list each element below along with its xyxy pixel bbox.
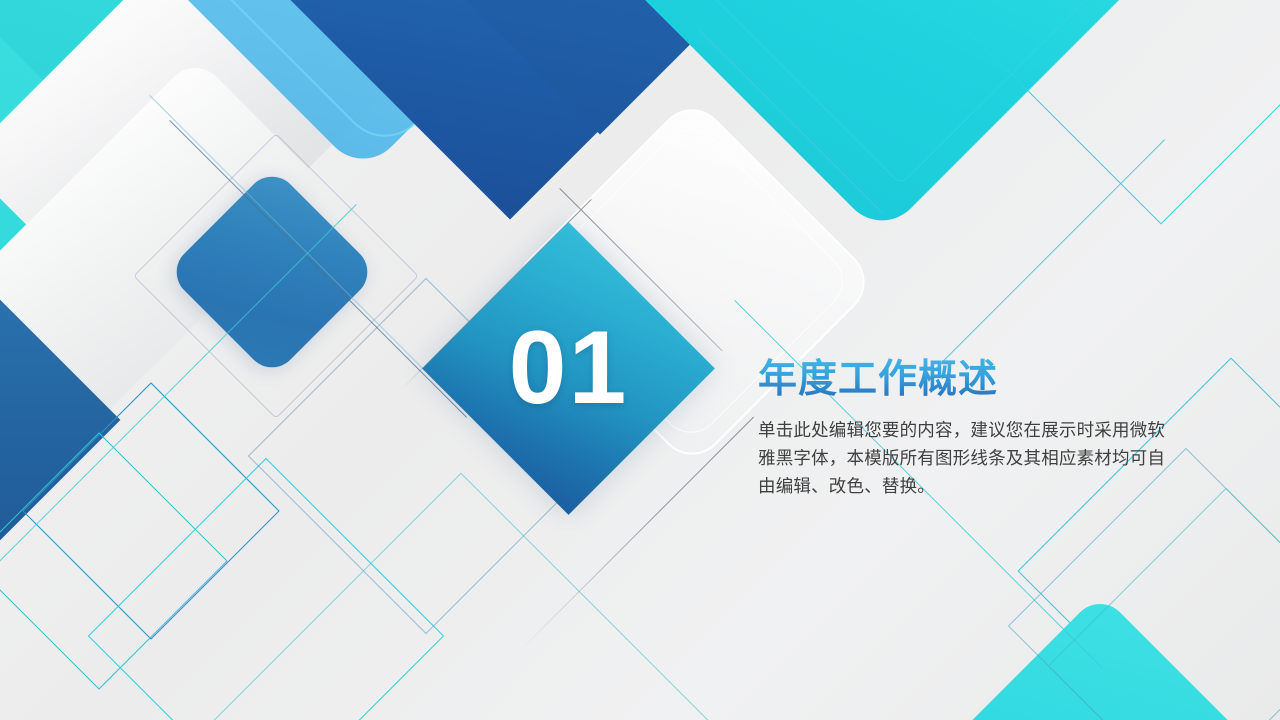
presentation-slide: 01 年度工作概述 单击此处编辑您要的内容，建议您在展示时采用微软雅黑字体，本模…	[0, 0, 1280, 720]
slide-text-block: 年度工作概述 单击此处编辑您要的内容，建议您在展示时采用微软雅黑字体，本模版所有…	[758, 358, 1188, 501]
page-title: 年度工作概述	[758, 358, 1188, 402]
hairline-diagonal-f	[931, 139, 1165, 373]
slide-body-text: 单击此处编辑您要的内容，建议您在展示时采用微软雅黑字体，本模版所有图形线条及其相…	[758, 416, 1176, 501]
